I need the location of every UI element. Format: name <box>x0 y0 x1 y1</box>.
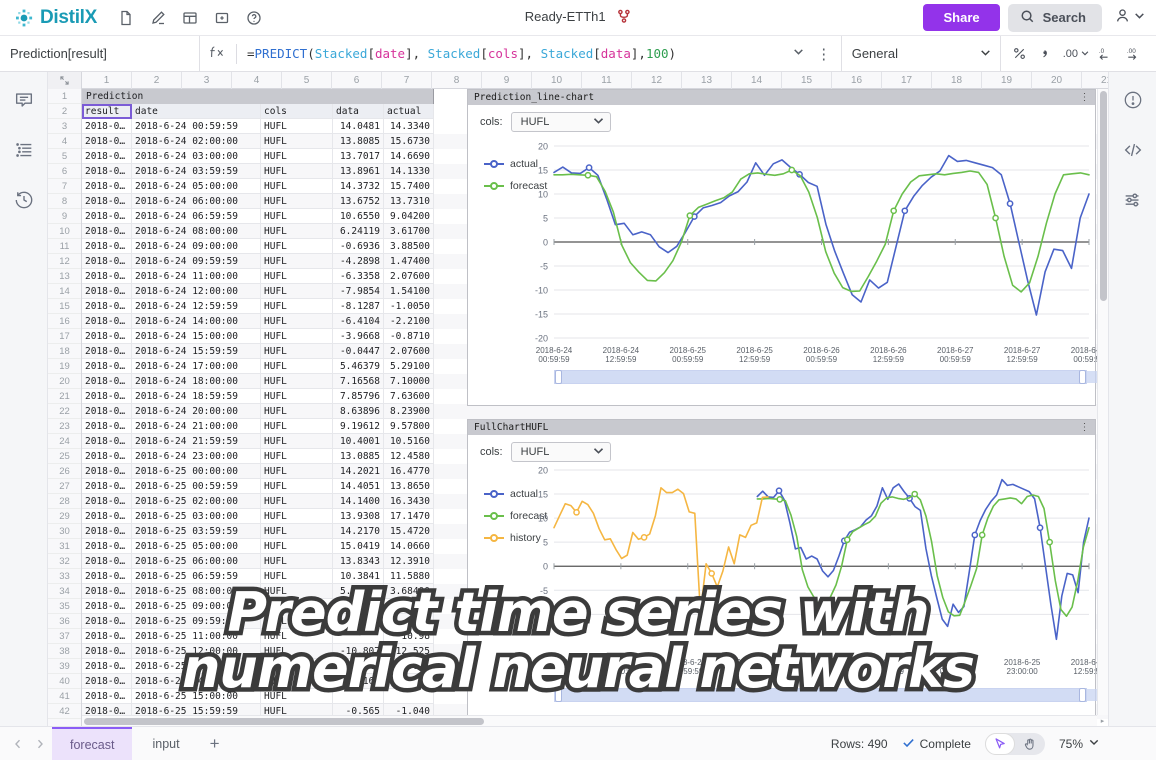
cell-cols[interactable]: HUFL <box>261 329 333 344</box>
name-box[interactable]: Prediction[result] <box>0 36 200 71</box>
cell-result[interactable]: 2018-0… <box>82 254 132 269</box>
cell-actual[interactable]: 14.3340 <box>384 119 434 134</box>
vertical-scrollbar[interactable] <box>1097 89 1108 715</box>
range-selection[interactable] <box>559 689 1108 701</box>
cell-cols[interactable]: HUFL <box>261 374 333 389</box>
cell-data[interactable]: -10.248 <box>333 659 384 674</box>
cell-date[interactable]: 2018-6-24 05:00:00 <box>132 179 261 194</box>
cell-actual[interactable]: 1.54100 <box>384 284 434 299</box>
cell-actual[interactable]: -12.525 <box>384 644 434 659</box>
row-header-cell[interactable]: 23 <box>48 419 81 434</box>
cell-date[interactable]: 2018-6-25 08:00:00 <box>132 584 261 599</box>
cell-result[interactable]: 2018-0… <box>82 629 132 644</box>
cell-data[interactable] <box>333 689 384 704</box>
search-button[interactable]: Search <box>1008 4 1102 32</box>
cell-actual[interactable]: 15.7400 <box>384 179 434 194</box>
row-header-cell[interactable]: 32 <box>48 554 81 569</box>
column-header-14[interactable]: 14 <box>732 72 782 89</box>
cell-data[interactable]: 5.46379 <box>333 359 384 374</box>
cell-result[interactable]: 2018-0… <box>82 434 132 449</box>
cell-result[interactable]: 2018-0… <box>82 179 132 194</box>
column-header-10[interactable]: 10 <box>532 72 582 89</box>
cell-data[interactable]: 13.8085 <box>333 134 384 149</box>
row-header-cell[interactable]: 8 <box>48 194 81 209</box>
row-header-cell[interactable]: 15 <box>48 299 81 314</box>
cell-cols[interactable]: HUFL <box>261 674 333 689</box>
row-header-cell[interactable]: 13 <box>48 269 81 284</box>
cell-date[interactable]: 2018-6-24 03:00:00 <box>132 149 261 164</box>
formula-kebab-menu-icon[interactable]: ⋮ <box>813 45 835 63</box>
edit-pen-icon[interactable] <box>143 5 173 31</box>
cell-cols[interactable]: HUFL <box>261 464 333 479</box>
cell-date[interactable]: 2018-6-24 18:00:00 <box>132 374 261 389</box>
range-selection[interactable] <box>559 371 1108 383</box>
sliders-icon[interactable] <box>1119 186 1147 214</box>
cell-data[interactable]: -7.160 <box>333 674 384 689</box>
cell-date[interactable]: 2018-6-24 12:59:59 <box>132 299 261 314</box>
cell-actual[interactable]: 16.4770 <box>384 464 434 479</box>
row-header-cell[interactable]: 34 <box>48 584 81 599</box>
cell-data[interactable]: 7.16568 <box>333 374 384 389</box>
row-header-cell[interactable]: 16 <box>48 314 81 329</box>
cell-date[interactable]: 2018-6-25 03:59:59 <box>132 524 261 539</box>
cell-cols[interactable]: HUFL <box>261 284 333 299</box>
cell-result[interactable]: 2018-0… <box>82 299 132 314</box>
cell-result[interactable]: 2018-0… <box>82 194 132 209</box>
cell-cols[interactable]: HUFL <box>261 299 333 314</box>
cell-result[interactable]: 2018-0… <box>82 419 132 434</box>
cell-date[interactable]: 2018-6-25 05:00:00 <box>132 539 261 554</box>
cell-data[interactable]: 14.4051 <box>333 479 384 494</box>
chart-plot-area[interactable]: actual forecast 20151050-5-10-15-202018-… <box>468 136 1095 398</box>
cell-actual[interactable]: 14.1330 <box>384 164 434 179</box>
cell-result[interactable]: 2018-0… <box>82 359 132 374</box>
spreadsheet-grid[interactable]: 123456789101112131415161718192021 1 2 34… <box>48 72 1108 726</box>
table-row[interactable]: 2018-0…2018-6-24 20:00:00HUFL8.638968.23… <box>82 404 1108 419</box>
cell-data[interactable]: 13.8961 <box>333 164 384 179</box>
cell-cols[interactable]: HUFL <box>261 419 333 434</box>
cell-actual[interactable]: 16.3430 <box>384 494 434 509</box>
sheet-tab-forecast[interactable]: forecast <box>52 727 132 760</box>
cell-result[interactable]: 2018-0… <box>82 329 132 344</box>
cell-result[interactable]: 2018-0… <box>82 599 132 614</box>
comment-bubble-icon[interactable] <box>10 86 38 114</box>
column-header-20[interactable]: 20 <box>1032 72 1082 89</box>
cell-data[interactable]: -7.9854 <box>333 284 384 299</box>
comma-format-button[interactable] <box>1035 42 1057 66</box>
share-button[interactable]: Share <box>923 4 999 31</box>
horizontal-scrollbar[interactable] <box>82 715 1097 726</box>
cell-date[interactable]: 2018-6-24 09:00:00 <box>132 239 261 254</box>
cell-actual[interactable]: -0.8710 <box>384 329 434 344</box>
cell-data[interactable]: 13.6752 <box>333 194 384 209</box>
cell-actual[interactable]: 2.07600 <box>384 344 434 359</box>
row-header-cell[interactable]: 31 <box>48 539 81 554</box>
cell-result[interactable]: 2018-0… <box>82 134 132 149</box>
cell-date[interactable]: 2018-6-24 11:00:00 <box>132 269 261 284</box>
cell-actual[interactable]: -1.875 <box>384 599 434 614</box>
cell-actual[interactable]: 3.68400 <box>384 584 434 599</box>
formula-expand-chevron-down-icon[interactable] <box>785 45 813 63</box>
cell-date[interactable]: 2018-6-24 18:59:59 <box>132 389 261 404</box>
cell-result[interactable]: 2018-0… <box>82 659 132 674</box>
cell-data[interactable]: -8.1287 <box>333 299 384 314</box>
cell-date[interactable]: 2018-6-24 08:00:00 <box>132 224 261 239</box>
row-header-cell[interactable]: 42 <box>48 704 81 719</box>
cell-data[interactable]: 13.9308 <box>333 509 384 524</box>
row-header-cell[interactable]: 18 <box>48 344 81 359</box>
cell-result[interactable]: 2018-0… <box>82 464 132 479</box>
cell-date[interactable]: 2018-6-24 21:00:00 <box>132 419 261 434</box>
row-header-cell[interactable]: 6 <box>48 164 81 179</box>
row-header-cell[interactable]: 37 <box>48 629 81 644</box>
cell-date[interactable]: 2018-6-24 03:59:59 <box>132 164 261 179</box>
cell-cols[interactable]: HUFL <box>261 149 333 164</box>
cell-data[interactable]: -0.6936 <box>333 239 384 254</box>
cell-data[interactable]: 14.1400 <box>333 494 384 509</box>
cell-date[interactable]: 2018-6-25 09:59:59 <box>132 614 261 629</box>
cell-cols[interactable]: HUFL <box>261 554 333 569</box>
cell-data[interactable]: 15.0419 <box>333 539 384 554</box>
cell-cols[interactable]: HUFL <box>261 539 333 554</box>
cell-data[interactable]: 14.2170 <box>333 524 384 539</box>
row-header-cell[interactable]: 39 <box>48 659 81 674</box>
cell-result[interactable]: 2018-0… <box>82 149 132 164</box>
cell-cols[interactable]: HUFL <box>261 314 333 329</box>
column-header-result[interactable]: result <box>82 104 132 119</box>
cell-data[interactable]: -6.4104 <box>333 314 384 329</box>
cell-date[interactable]: 2018-6-24 09:59:59 <box>132 254 261 269</box>
cell-cols[interactable]: HUFL <box>261 494 333 509</box>
cell-date[interactable]: 2018-6-24 21:59:59 <box>132 434 261 449</box>
cell-cols[interactable]: HUFL <box>261 344 333 359</box>
cell-actual[interactable]: 15.6730 <box>384 134 434 149</box>
column-header-18[interactable]: 18 <box>932 72 982 89</box>
cell-cols[interactable]: HUFL <box>261 119 333 134</box>
cell-actual[interactable]: 7.10000 <box>384 374 434 389</box>
row-header-cell[interactable]: 35 <box>48 599 81 614</box>
cell-date[interactable]: 2018-6-24 06:59:59 <box>132 209 261 224</box>
cell-result[interactable]: 2018-0… <box>82 539 132 554</box>
column-header-11[interactable]: 11 <box>582 72 632 89</box>
cell-actual[interactable]: 14.0660 <box>384 539 434 554</box>
cell-cols[interactable]: HUFL <box>261 509 333 524</box>
cell-cols[interactable]: HUFL <box>261 434 333 449</box>
number-format-select[interactable]: General <box>841 36 1001 71</box>
row-header-cell[interactable]: 2 <box>48 104 81 119</box>
cell-date[interactable]: 2018-6-25 00:00:00 <box>132 464 261 479</box>
cell-result[interactable]: 2018-0… <box>82 404 132 419</box>
chevron-left-icon[interactable] <box>8 733 28 755</box>
cell-result[interactable]: 2018-0… <box>82 689 132 704</box>
cell-result[interactable]: 2018-0… <box>82 344 132 359</box>
cell-actual[interactable]: 17.1470 <box>384 509 434 524</box>
app-logo[interactable]: DistilX <box>0 7 97 29</box>
row-header-cell[interactable]: 22 <box>48 404 81 419</box>
cell-cols[interactable]: HUFL <box>261 404 333 419</box>
cell-date[interactable]: 2018-6-25 12:59:59 <box>132 659 261 674</box>
cell-actual[interactable]: 15.4720 <box>384 524 434 539</box>
cell-actual[interactable]: -2.2100 <box>384 314 434 329</box>
cell-actual[interactable]: 5.29100 <box>384 359 434 374</box>
cell-actual[interactable]: 8.23900 <box>384 404 434 419</box>
cell-actual[interactable] <box>384 689 434 704</box>
column-header-16[interactable]: 16 <box>832 72 882 89</box>
file-icon[interactable] <box>111 5 141 31</box>
row-header-cell[interactable]: 24 <box>48 434 81 449</box>
cell-actual[interactable]: 7.63600 <box>384 389 434 404</box>
column-header-8[interactable]: 8 <box>432 72 482 89</box>
cell-actual[interactable]: -1.0050 <box>384 299 434 314</box>
percent-format-button[interactable] <box>1009 42 1031 66</box>
cell-data[interactable]: 5.09169 <box>333 584 384 599</box>
branch-merge-icon[interactable] <box>617 9 631 27</box>
cell-date[interactable]: 2018-6-25 00:59:59 <box>132 479 261 494</box>
row-header-cell[interactable]: 28 <box>48 494 81 509</box>
insert-box-icon[interactable] <box>207 5 237 31</box>
cell-actual[interactable]: 3.88500 <box>384 239 434 254</box>
row-header-cell[interactable]: 30 <box>48 524 81 539</box>
row-header-cell[interactable]: 21 <box>48 389 81 404</box>
cell-date[interactable]: 2018-6-25 02:00:00 <box>132 494 261 509</box>
cell-data[interactable]: 8.63896 <box>333 404 384 419</box>
cell-data[interactable] <box>333 614 384 629</box>
column-header-21[interactable]: 21 <box>1082 72 1108 89</box>
cell-actual[interactable] <box>384 614 434 629</box>
range-handle-left[interactable] <box>555 688 562 702</box>
cell-result[interactable]: 2018-0… <box>82 224 132 239</box>
sheet-tab-input[interactable]: input <box>134 727 197 760</box>
cell-actual[interactable]: 11.5880 <box>384 569 434 584</box>
cell-actual[interactable]: 14.6690 <box>384 149 434 164</box>
column-header-data[interactable]: data <box>333 104 384 119</box>
range-handle-left[interactable] <box>555 370 562 384</box>
cell-data[interactable]: -10.807 <box>333 644 384 659</box>
cell-cols[interactable]: HUFL <box>261 239 333 254</box>
cell-result[interactable]: 2018-0… <box>82 494 132 509</box>
column-header-date[interactable]: date <box>132 104 261 119</box>
cell-data[interactable]: 14.0481 <box>333 119 384 134</box>
cell-actual[interactable]: 12.3910 <box>384 554 434 569</box>
cell-cols[interactable]: HUFL <box>261 584 333 599</box>
row-header-cell[interactable]: 25 <box>48 449 81 464</box>
cell-cols[interactable]: HUFL <box>261 164 333 179</box>
cell-date[interactable]: 2018-6-24 00:59:59 <box>132 119 261 134</box>
chart2-range-scrubber[interactable] <box>554 688 1087 702</box>
document-title[interactable]: Ready-ETTh1 <box>525 9 606 24</box>
column-header-12[interactable]: 12 <box>632 72 682 89</box>
row-header-cell[interactable]: 11 <box>48 239 81 254</box>
column-header-15[interactable]: 15 <box>782 72 832 89</box>
range-handle-right[interactable] <box>1079 370 1086 384</box>
cell-cols[interactable]: HUFL <box>261 224 333 239</box>
row-header-cell[interactable]: 36 <box>48 614 81 629</box>
scroll-corner-chevron-right-icon[interactable]: ▸ <box>1097 715 1108 726</box>
chart-plot-area[interactable]: actual forecast history 20151050-5-10201… <box>468 466 1095 712</box>
row-header-cell[interactable]: 10 <box>48 224 81 239</box>
cell-data[interactable]: 6.24119 <box>333 224 384 239</box>
chart-panel-fullchart[interactable]: FullChartHUFL ⋮ cols: HUFL actual <box>467 419 1096 719</box>
cell-cols[interactable]: HUFL <box>261 449 333 464</box>
history-clock-icon[interactable] <box>10 186 38 214</box>
outline-list-icon[interactable] <box>10 136 38 164</box>
cell-data[interactable]: -6.3358 <box>333 269 384 284</box>
cell-result[interactable]: 2018-0… <box>82 674 132 689</box>
info-circle-icon[interactable] <box>1119 86 1147 114</box>
cell-date[interactable]: 2018-6-25 15:00:00 <box>132 689 261 704</box>
select-all-corner[interactable] <box>48 72 82 89</box>
cell-date[interactable]: 2018-6-25 09:00:00 <box>132 599 261 614</box>
add-sheet-button[interactable]: + <box>200 730 230 758</box>
cell-result[interactable]: 2018-0… <box>82 644 132 659</box>
column-header-1[interactable]: 1 <box>82 72 132 89</box>
cell-date[interactable]: 2018-6-25 03:00:00 <box>132 509 261 524</box>
cell-cols[interactable]: HUFL <box>261 614 333 629</box>
cell-data[interactable] <box>333 599 384 614</box>
cell-cols[interactable]: HUFL <box>261 569 333 584</box>
column-header-5[interactable]: 5 <box>282 72 332 89</box>
column-header-2[interactable]: 2 <box>132 72 182 89</box>
column-header-actual[interactable]: actual <box>384 104 434 119</box>
row-header-cell[interactable]: 40 <box>48 674 81 689</box>
cell-cols[interactable]: HUFL <box>261 659 333 674</box>
increase-decimal-button[interactable]: .00 <box>1124 42 1148 66</box>
cell-data[interactable]: 13.7017 <box>333 149 384 164</box>
row-header-cell[interactable]: 33 <box>48 569 81 584</box>
row-header-cell[interactable]: 17 <box>48 329 81 344</box>
cell-data[interactable]: -0.0447 <box>333 344 384 359</box>
column-header-19[interactable]: 19 <box>982 72 1032 89</box>
cell-result[interactable]: 2018-0… <box>82 479 132 494</box>
cell-date[interactable]: 2018-6-24 15:59:59 <box>132 344 261 359</box>
cell-actual[interactable]: 1.47400 <box>384 254 434 269</box>
cell-result[interactable]: 2018-0… <box>82 524 132 539</box>
cell-result[interactable]: 2018-0… <box>82 554 132 569</box>
cell-data[interactable]: 14.3732 <box>333 179 384 194</box>
column-header-7[interactable]: 7 <box>382 72 432 89</box>
cell-date[interactable]: 2018-6-25 12:00:00 <box>132 644 261 659</box>
fx-icon[interactable] <box>200 44 236 63</box>
column-header-17[interactable]: 17 <box>882 72 932 89</box>
cell-date[interactable]: 2018-6-25 14:00:00 <box>132 674 261 689</box>
cell-actual[interactable]: -7.9040 <box>384 659 434 674</box>
cell-data[interactable] <box>333 629 384 644</box>
cell-date[interactable]: 2018-6-25 11:00:00 <box>132 629 261 644</box>
cell-result[interactable]: 2018-0… <box>82 569 132 584</box>
zoom-control[interactable]: 75% <box>1059 736 1100 751</box>
cell-date[interactable]: 2018-6-24 15:00:00 <box>132 329 261 344</box>
cell-result[interactable]: 2018-0… <box>82 239 132 254</box>
row-header-cell[interactable]: 14 <box>48 284 81 299</box>
row-header-cell[interactable]: 41 <box>48 689 81 704</box>
column-header-9[interactable]: 9 <box>482 72 532 89</box>
kebab-menu-icon[interactable]: ⋮ <box>1080 422 1091 433</box>
cell-cols[interactable]: HUFL <box>261 629 333 644</box>
row-header-cell[interactable]: 27 <box>48 479 81 494</box>
decrease-decimal-button[interactable]: .0 <box>1096 42 1120 66</box>
row-header-cell[interactable]: 38 <box>48 644 81 659</box>
cols-select[interactable]: HUFL <box>511 442 611 462</box>
row-header-cell[interactable]: 4 <box>48 134 81 149</box>
cell-cols[interactable]: HUFL <box>261 524 333 539</box>
cell-data[interactable]: 10.3841 <box>333 569 384 584</box>
help-circle-icon[interactable] <box>239 5 269 31</box>
row-header-cell[interactable]: 1 <box>48 89 81 104</box>
row-header-cell[interactable]: 3 <box>48 119 81 134</box>
cell-date[interactable]: 2018-6-24 17:00:00 <box>132 359 261 374</box>
cell-result[interactable]: 2018-0… <box>82 614 132 629</box>
cell-result[interactable]: 2018-0… <box>82 314 132 329</box>
cell-cols[interactable]: HUFL <box>261 194 333 209</box>
cell-date[interactable]: 2018-6-25 06:59:59 <box>132 569 261 584</box>
cell-cols[interactable]: HUFL <box>261 479 333 494</box>
row-header-cell[interactable]: 7 <box>48 179 81 194</box>
cell-cols[interactable]: HUFL <box>261 644 333 659</box>
cell-actual[interactable]: -10.98 <box>384 629 434 644</box>
cell-date[interactable]: 2018-6-24 06:00:00 <box>132 194 261 209</box>
cell-actual[interactable]: 12.4580 <box>384 449 434 464</box>
cell-cols[interactable]: HUFL <box>261 269 333 284</box>
cell-result[interactable]: 2018-0… <box>82 389 132 404</box>
chevron-right-icon[interactable] <box>30 733 50 755</box>
cell-cols[interactable]: HUFL <box>261 389 333 404</box>
row-header-cell[interactable]: 9 <box>48 209 81 224</box>
cell-data[interactable]: 10.6550 <box>333 209 384 224</box>
formula-input[interactable]: =PREDICT(Stacked[date], Stacked[cols], S… <box>237 46 785 61</box>
column-header-cols[interactable]: cols <box>261 104 333 119</box>
row-header-cell[interactable]: 12 <box>48 254 81 269</box>
column-header-6[interactable]: 6 <box>332 72 382 89</box>
cell-data[interactable]: -4.2898 <box>333 254 384 269</box>
cell-date[interactable]: 2018-6-24 12:00:00 <box>132 284 261 299</box>
cell-cols[interactable]: HUFL <box>261 254 333 269</box>
cell-cols[interactable]: HUFL <box>261 134 333 149</box>
cursor-arrow-icon[interactable] <box>985 733 1015 755</box>
cell-cols[interactable]: HUFL <box>261 359 333 374</box>
horizontal-scrollbar-thumb[interactable] <box>84 718 484 725</box>
cell-data[interactable]: 10.4001 <box>333 434 384 449</box>
cell-date[interactable]: 2018-6-24 20:00:00 <box>132 404 261 419</box>
chart-panel-prediction[interactable]: Prediction_line-chart ⋮ cols: HUFL actua… <box>467 89 1096 406</box>
hand-pan-icon[interactable] <box>1015 733 1045 755</box>
cell-result[interactable]: 2018-0… <box>82 284 132 299</box>
account-menu[interactable] <box>1110 7 1146 29</box>
row-header-cell[interactable]: 19 <box>48 359 81 374</box>
cell-actual[interactable]: 10.5160 <box>384 434 434 449</box>
range-handle-right[interactable] <box>1079 688 1086 702</box>
cell-actual[interactable]: 2.07600 <box>384 269 434 284</box>
cell-result[interactable]: 2018-0… <box>82 164 132 179</box>
cell-result[interactable]: 2018-0… <box>82 269 132 284</box>
row-header-cell[interactable]: 29 <box>48 509 81 524</box>
cell-data[interactable]: 13.0885 <box>333 449 384 464</box>
column-header-13[interactable]: 13 <box>682 72 732 89</box>
cols-select[interactable]: HUFL <box>511 112 611 132</box>
code-brackets-icon[interactable] <box>1119 136 1147 164</box>
chart1-range-scrubber[interactable] <box>554 370 1087 384</box>
cell-actual[interactable]: 13.7310 <box>384 194 434 209</box>
column-header-3[interactable]: 3 <box>182 72 232 89</box>
table-icon[interactable] <box>175 5 205 31</box>
cell-actual[interactable]: -9.6450 <box>384 674 434 689</box>
decimal-format-button[interactable]: .00 <box>1061 42 1092 66</box>
kebab-menu-icon[interactable]: ⋮ <box>1080 92 1091 103</box>
cell-result[interactable]: 2018-0… <box>82 374 132 389</box>
cell-date[interactable]: 2018-6-25 06:00:00 <box>132 554 261 569</box>
cell-result[interactable]: 2018-0… <box>82 449 132 464</box>
cell-cols[interactable]: HUFL <box>261 599 333 614</box>
row-header-cell[interactable]: 26 <box>48 464 81 479</box>
